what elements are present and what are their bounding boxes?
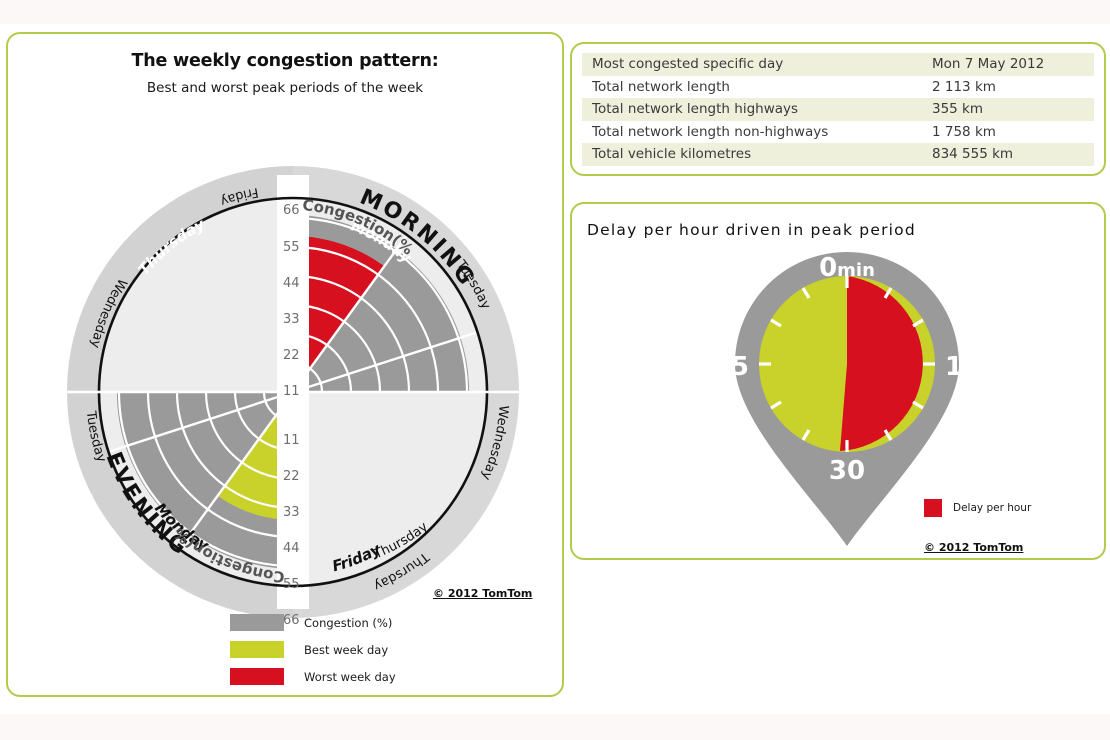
legend-swatch-worst — [230, 668, 284, 685]
legend-item: Congestion (%) — [230, 609, 396, 636]
stat-label: Total vehicle kilometres — [592, 146, 932, 162]
stat-label: Total network length non-highways — [592, 124, 932, 140]
stat-value: 834 555 km — [932, 146, 1094, 162]
svg-text:44: 44 — [283, 276, 300, 291]
page-title: The weekly congestion pattern: — [8, 51, 562, 71]
svg-text:11: 11 — [283, 433, 300, 448]
stat-value: Mon 7 May 2012 — [932, 56, 1094, 72]
delay-legend: Delay per hour — [924, 499, 1031, 517]
legend-item: Worst week day — [230, 663, 396, 690]
copyright-delay: © 2012 TomTom — [924, 541, 1023, 554]
legend-item: Best week day — [230, 636, 396, 663]
rose-chart-svg: MORNING Monday Tuesday Wednesday — [2, 80, 562, 600]
legend-swatch-congestion — [230, 614, 284, 631]
stat-label: Total network length highways — [592, 101, 932, 117]
weekly-congestion-rose-chart: MORNING Monday Tuesday Wednesday — [2, 80, 562, 600]
delay-panel-title: Delay per hour driven in peak period — [587, 221, 916, 239]
network-stats-panel: Most congested specific day Mon 7 May 20… — [570, 42, 1106, 176]
svg-text:66: 66 — [283, 203, 300, 218]
table-row: Total vehicle kilometres 834 555 km — [582, 143, 1094, 166]
legend-swatch-best — [230, 641, 284, 658]
svg-text:33: 33 — [283, 312, 300, 327]
table-row: Total network length non-highways 1 758 … — [582, 121, 1094, 144]
legend-swatch-delay — [924, 499, 942, 517]
table-row: Most congested specific day Mon 7 May 20… — [582, 53, 1094, 76]
weekly-legend: Congestion (%) Best week day Worst week … — [230, 609, 396, 690]
legend-label: Best week day — [304, 643, 388, 657]
weekly-congestion-panel: The weekly congestion pattern: Best and … — [6, 32, 564, 697]
stats-table: Most congested specific day Mon 7 May 20… — [582, 53, 1094, 166]
stat-value: 1 758 km — [932, 124, 1094, 140]
svg-text:22: 22 — [283, 469, 300, 484]
gauge-label-left: 45 — [713, 352, 749, 382]
svg-text:11: 11 — [283, 384, 300, 399]
rose-geometry: MORNING Monday Tuesday Wednesday — [0, 66, 520, 628]
delay-per-hour-panel: Delay per hour driven in peak period — [570, 202, 1106, 560]
svg-text:55: 55 — [283, 240, 300, 255]
stat-label: Most congested specific day — [592, 56, 932, 72]
table-row: Total network length 2 113 km — [582, 76, 1094, 99]
legend-label: Congestion (%) — [304, 616, 392, 630]
stat-label: Total network length — [592, 79, 932, 95]
copyright-weekly: © 2012 TomTom — [433, 587, 532, 600]
svg-text:55: 55 — [283, 577, 300, 592]
table-row: Total network length highways 355 km — [582, 98, 1094, 121]
gauge-label-right: 15 — [945, 352, 981, 382]
page-root: The weekly congestion pattern: Best and … — [0, 0, 1110, 740]
stat-value: 2 113 km — [932, 79, 1094, 95]
gauge-label-bottom: 30 — [829, 456, 865, 486]
svg-text:22: 22 — [283, 348, 300, 363]
svg-text:33: 33 — [283, 505, 300, 520]
legend-label: Worst week day — [304, 670, 396, 684]
stat-value: 355 km — [932, 101, 1094, 117]
legend-label: Delay per hour — [953, 502, 1031, 514]
svg-text:44: 44 — [283, 541, 300, 556]
